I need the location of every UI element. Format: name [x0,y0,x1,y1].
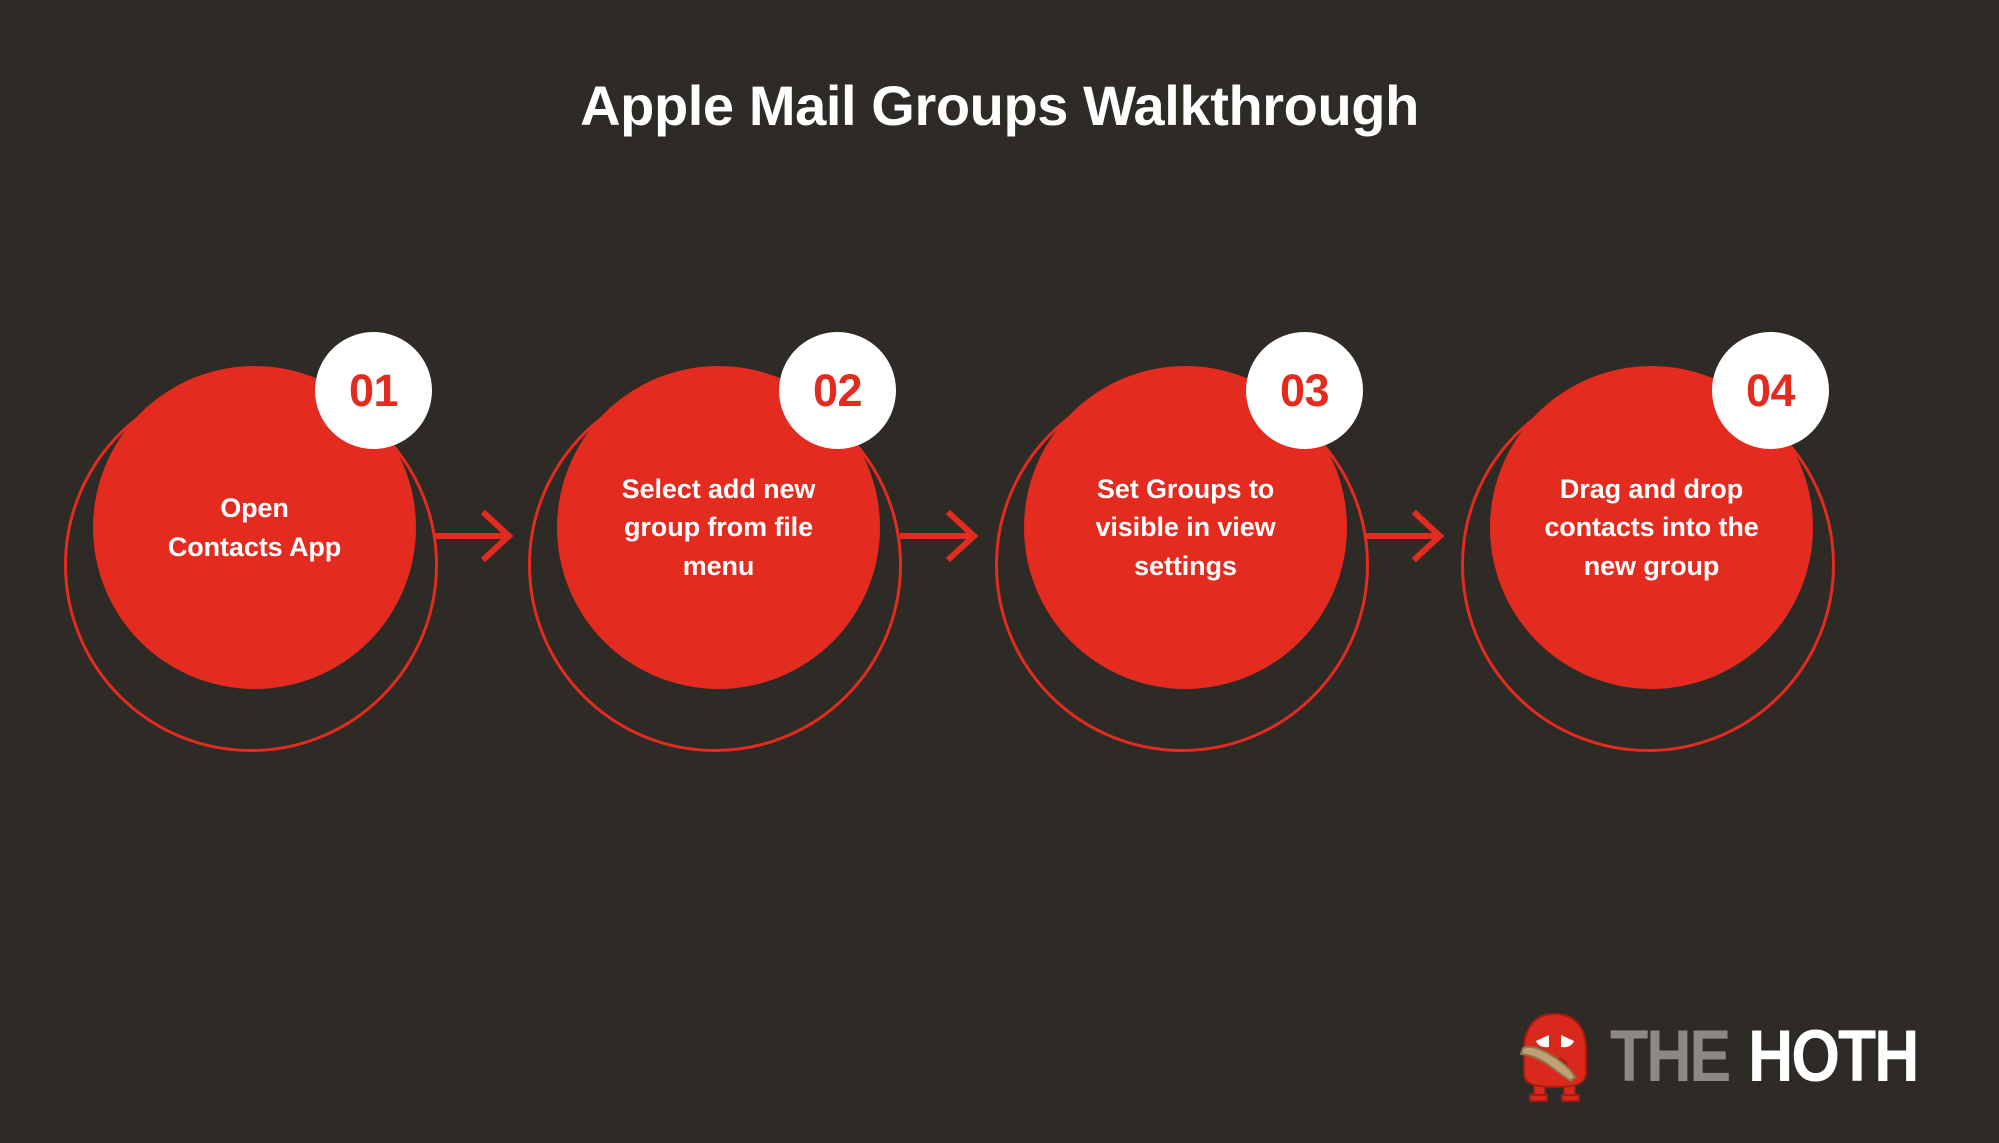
step-2-label: Select add newgroup from filemenu [594,470,844,585]
step-1-label-line: Contacts App [130,528,380,566]
step-4-number-badge: 04 [1712,332,1829,449]
hoth-mascot-icon [1516,1011,1594,1103]
step-4-label: Drag and dropcontacts into thenew group [1527,470,1777,585]
step-3-number: 03 [1280,368,1329,413]
step-3-number-badge: 03 [1246,332,1363,449]
step-3-label: Set Groups tovisible in viewsettings [1061,470,1311,585]
logo-text-the: THE [1610,1024,1729,1090]
step-3-label-line: settings [1061,547,1311,585]
thehoth-logo[interactable]: THEHOTH [1516,1009,1945,1105]
step-1-label-line: Open [130,489,380,527]
step-3-label-line: Set Groups to [1061,470,1311,508]
step-3-label-line: visible in view [1061,508,1311,546]
step-1-label: OpenContacts App [130,489,380,566]
steps-row: OpenContacts App 01 Select add newgroup … [0,366,1999,790]
step-4-number: 04 [1746,368,1795,413]
step-2-label-line: Select add new [594,470,844,508]
step-2-number: 02 [813,368,862,413]
step-4-label-line: Drag and drop [1527,470,1777,508]
thehoth-wordmark: THEHOTH [1610,1024,1945,1090]
infographic-canvas: Apple Mail Groups Walkthrough OpenContac… [0,0,1999,1143]
step-1-number: 01 [349,368,398,413]
step-1[interactable]: OpenContacts App 01 [60,366,484,790]
step-4[interactable]: Drag and dropcontacts into thenew group … [1457,366,1881,790]
step-3[interactable]: Set Groups tovisible in viewsettings 03 [991,366,1415,790]
step-2-number-badge: 02 [779,332,896,449]
step-1-number-badge: 01 [315,332,432,449]
step-2-label-line: menu [594,547,844,585]
page-title: Apple Mail Groups Walkthrough [0,76,1999,136]
step-2[interactable]: Select add newgroup from filemenu 02 [524,366,948,790]
step-4-label-line: contacts into the [1527,508,1777,546]
logo-text-hoth: HOTH [1748,1024,1917,1090]
step-2-label-line: group from file [594,508,844,546]
step-4-label-line: new group [1527,547,1777,585]
